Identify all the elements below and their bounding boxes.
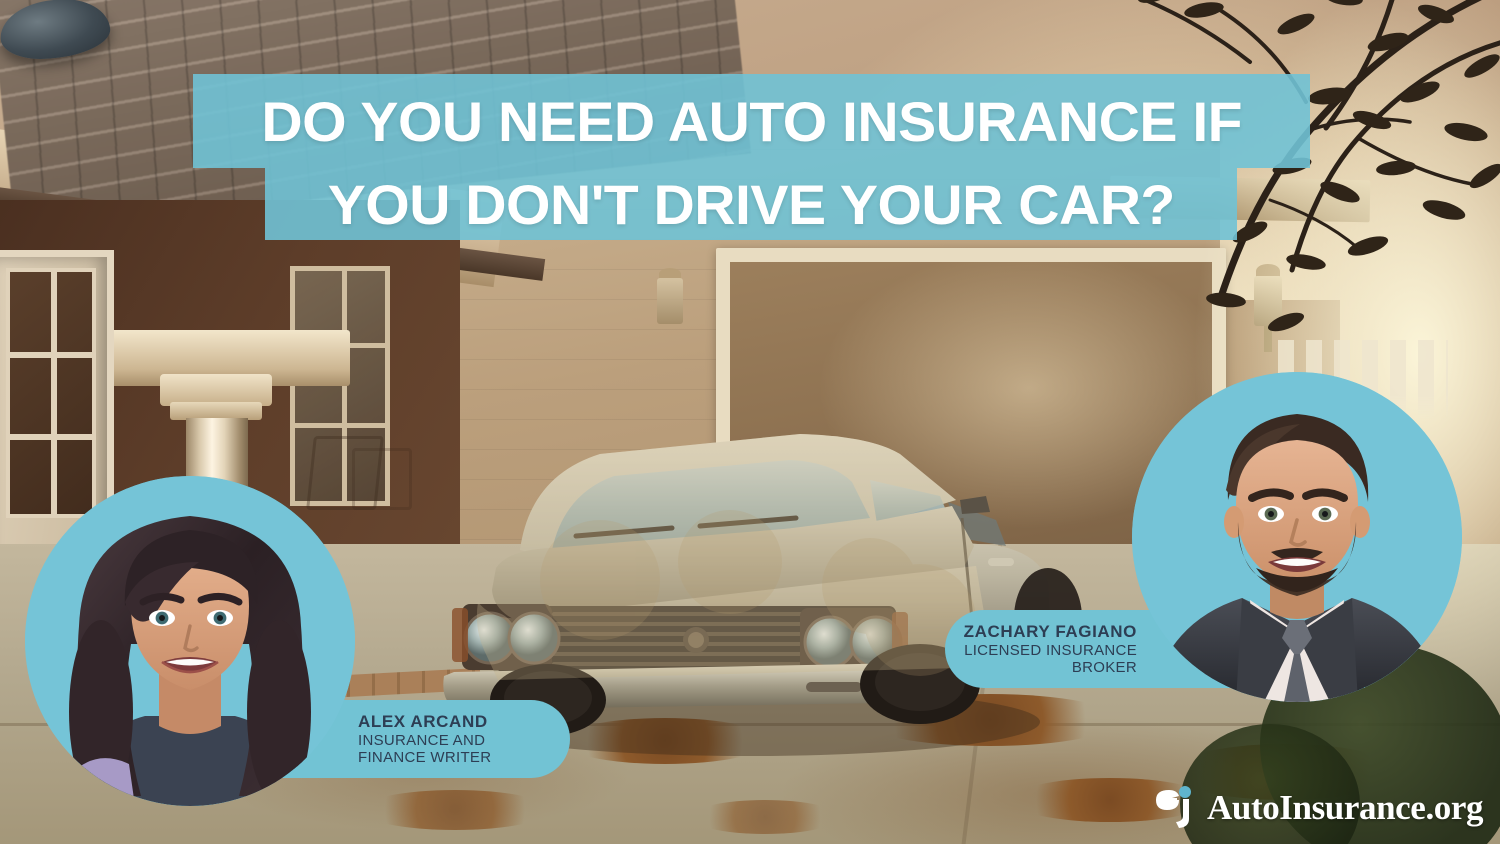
site-logo-text: AutoInsurance.org <box>1207 790 1483 825</box>
avatar-alex-arcand <box>25 476 355 806</box>
site-logo[interactable]: AutoInsurance.org <box>1152 783 1483 831</box>
byline-name: ZACHARY FAGIANO <box>964 622 1137 642</box>
headline-band-2: YOU DON'T DRIVE YOUR CAR? <box>265 168 1237 240</box>
headline-line-1: DO YOU NEED AUTO INSURANCE IF <box>261 89 1242 154</box>
front-door-mullion <box>6 434 96 440</box>
headline-band-1: DO YOU NEED AUTO INSURANCE IF <box>193 74 1310 168</box>
promo-banner: DO YOU NEED AUTO INSURANCE IF YOU DON'T … <box>0 0 1500 844</box>
avatar-photo <box>25 476 355 806</box>
byline-role-line-1: LICENSED INSURANCE <box>964 642 1137 659</box>
avatar-zachary-fagiano <box>1132 372 1462 702</box>
byline-name: ALEX ARCAND <box>358 712 488 732</box>
byline-role-line-2: BROKER <box>1072 659 1137 676</box>
avatar-photo <box>1132 372 1462 702</box>
leaf-debris <box>690 800 840 834</box>
leaf-debris <box>360 790 550 830</box>
byline-role-line-1: INSURANCE AND <box>358 732 485 749</box>
headline-line-2: YOU DON'T DRIVE YOUR CAR? <box>327 172 1174 237</box>
autoinsurance-mark-icon <box>1152 785 1198 829</box>
garage-lantern-icon <box>657 278 683 324</box>
byline-role-line-2: FINANCE WRITER <box>358 749 491 766</box>
